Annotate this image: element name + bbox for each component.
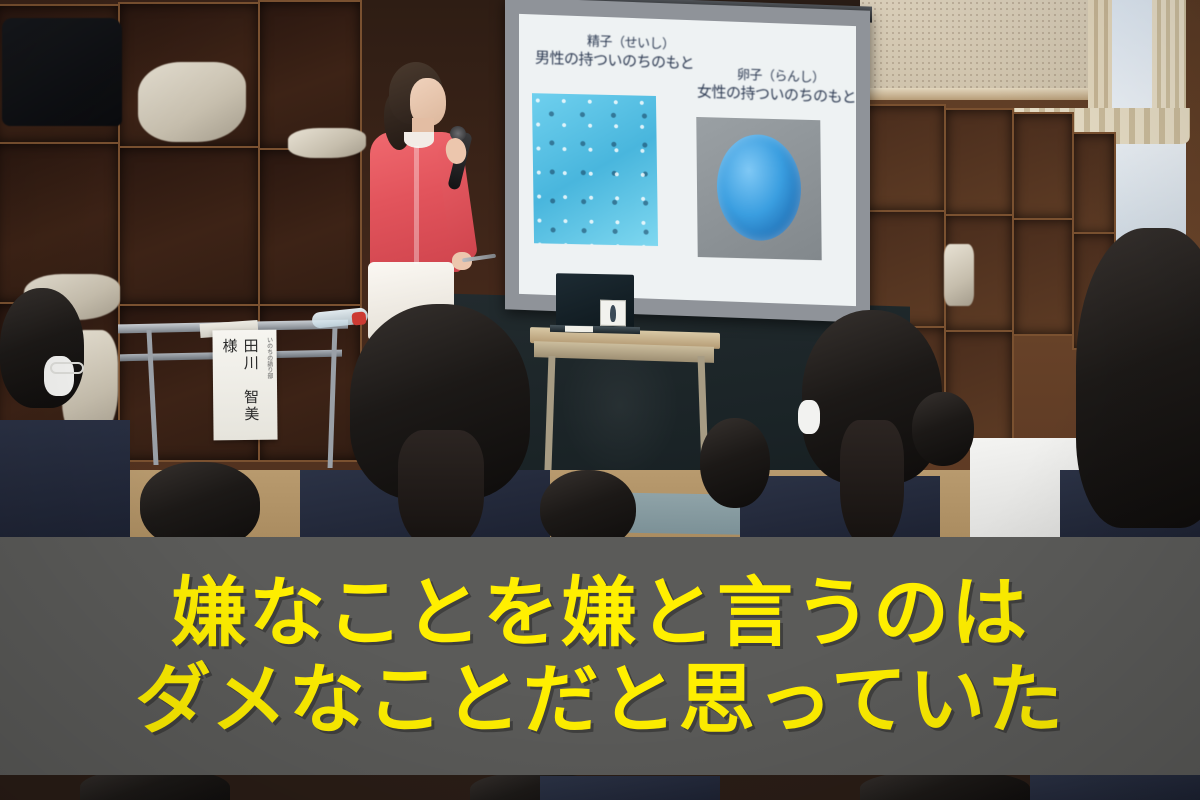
cubby-cell [1012,112,1074,220]
name-sign-subtitle: いのちの語り部 [264,337,272,379]
face-mask [798,400,820,434]
stored-cloth [138,62,246,142]
sperm-micrograph-image [532,93,658,246]
eyeglasses [50,362,84,374]
screenshot-root: 精子（せいし） 男性の持ついのちのもと 卵子（らんし） 女性の持ついのちのもと … [0,0,1200,800]
ovum-cell-shape [716,134,801,242]
audience-head [700,418,770,508]
cubby-cell [944,108,1014,216]
ponytail [840,420,904,548]
ovum-micrograph-image [696,117,821,260]
cubby-cell [862,104,946,212]
stored-cloth [288,128,366,158]
name-sign: 田川 智美 様 いのちの語り部 [212,330,277,441]
audience-head [0,288,84,408]
slide-right-description: 女性の持ついのちのもと [697,80,856,107]
speaker-cardigan-placket [414,146,419,264]
cubby-cell [1072,132,1116,236]
cubby-cell [258,148,362,306]
ponytail [398,430,484,550]
desk-placard [600,300,626,326]
bottle-cap [351,311,366,325]
caption-line-1: 嫌なことを嫌と言うのは [171,570,1029,655]
audience-head [1076,228,1200,528]
audience-torso [0,420,130,550]
slide-left-description: 男性の持ついのちのもと [535,46,694,73]
desk-paper [565,326,593,333]
name-sign-name: 田川 智美 様 [219,338,262,440]
audience-head [912,392,974,466]
stored-item [944,244,974,306]
audience-torso-foreground [1030,774,1200,800]
cubby-cell [118,146,260,306]
projection-screen: 精子（せいし） 男性の持ついのちのもと 卵子（らんし） 女性の持ついのちのもと [519,14,856,306]
audience-torso-foreground [540,776,720,800]
caption-bar: 嫌なことを嫌と言うのは ダメなことだと思っていた [0,537,1200,775]
stored-bag [2,18,122,126]
cubby-cell [1012,218,1074,336]
speaker-collar [404,132,434,148]
caption-line-2: ダメなことだと思っていた [135,657,1065,742]
